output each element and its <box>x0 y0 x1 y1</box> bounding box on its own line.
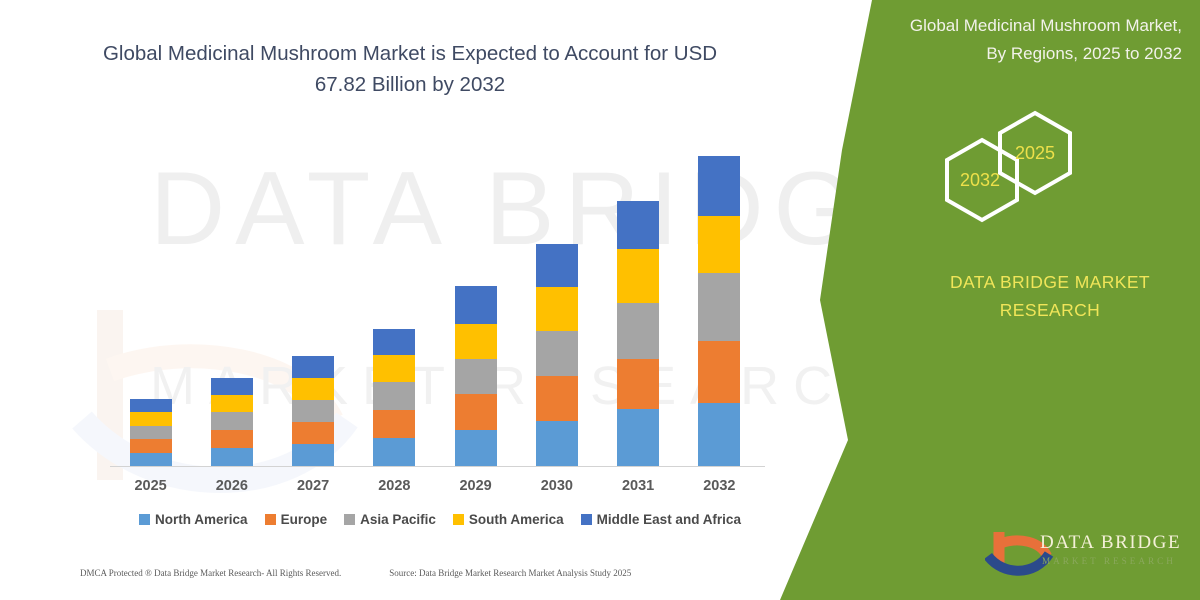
bar-segment <box>455 359 497 394</box>
bar-segment <box>373 438 415 467</box>
legend-label: Middle East and Africa <box>597 512 741 527</box>
bar-segment <box>536 376 578 421</box>
logo-tagline: MARKET RESEARCH <box>1042 556 1176 566</box>
sidebar-heading-line2: By Regions, 2025 to 2032 <box>822 40 1182 68</box>
bar-segment <box>536 244 578 287</box>
x-axis-tick-label: 2027 <box>273 478 353 494</box>
legend-swatch-icon <box>265 514 276 525</box>
brand-line-2: RESEARCH <box>900 296 1200 324</box>
bar-segment <box>617 201 659 249</box>
legend-swatch-icon <box>344 514 355 525</box>
footer: DMCA Protected ® Data Bridge Market Rese… <box>80 568 780 578</box>
bar-column <box>192 120 272 467</box>
bar-segment <box>373 355 415 382</box>
bar-segment <box>130 412 172 426</box>
bar-segment <box>211 378 253 395</box>
x-axis-line <box>110 466 765 467</box>
bar-segment <box>698 216 740 273</box>
brand-line-1: DATA BRIDGE MARKET <box>900 268 1200 296</box>
chart-panel: DATA BRIDGE MARKET RESEARCH Global Medic… <box>0 0 880 600</box>
footer-copyright: DMCA Protected ® Data Bridge Market Rese… <box>80 568 341 578</box>
brand-name: DATA BRIDGE MARKET RESEARCH <box>900 268 1200 324</box>
stacked-bar <box>455 286 497 467</box>
bar-segment <box>536 421 578 467</box>
bar-column <box>354 120 434 467</box>
bar-segment <box>617 409 659 467</box>
bar-segment <box>698 403 740 467</box>
footer-source: Source: Data Bridge Market Research Mark… <box>389 568 631 578</box>
bar-segment <box>292 378 334 400</box>
bar-column <box>679 120 759 467</box>
bar-column <box>517 120 597 467</box>
legend-swatch-icon <box>581 514 592 525</box>
hex-badge-2025: 2025 <box>1015 143 1055 164</box>
chart-plot-area <box>110 120 760 467</box>
bar-segment <box>292 422 334 444</box>
bar-segment <box>130 399 172 412</box>
hex-badge-2032: 2032 <box>960 170 1000 191</box>
bar-segment <box>211 448 253 467</box>
bar-segment <box>373 329 415 355</box>
stacked-bar <box>130 399 172 467</box>
chart-legend: North AmericaEuropeAsia PacificSouth Ame… <box>110 512 770 527</box>
legend-swatch-icon <box>139 514 150 525</box>
x-axis-tick-label: 2031 <box>598 478 678 494</box>
stacked-bar <box>617 201 659 467</box>
x-axis-tick-label: 2026 <box>192 478 272 494</box>
x-axis-labels: 20252026202720282029203020312032 <box>110 478 760 494</box>
legend-label: Asia Pacific <box>360 512 436 527</box>
bar-segment <box>292 356 334 378</box>
bar-segment <box>455 286 497 324</box>
legend-item[interactable]: North America <box>139 512 248 527</box>
bar-segment <box>211 412 253 430</box>
bar-group <box>110 120 760 467</box>
bar-segment <box>698 341 740 403</box>
bar-segment <box>455 394 497 430</box>
bar-segment <box>211 430 253 448</box>
page-title: Global Medicinal Mushroom Market is Expe… <box>80 38 740 100</box>
x-axis-tick-label: 2032 <box>679 478 759 494</box>
x-axis-tick-label: 2030 <box>517 478 597 494</box>
sidebar-heading: Global Medicinal Mushroom Market, By Reg… <box>822 12 1182 68</box>
logo-wordmark: DATA BRIDGE <box>1040 532 1181 554</box>
bar-segment <box>536 287 578 331</box>
legend-item[interactable]: Middle East and Africa <box>581 512 741 527</box>
stacked-bar <box>373 329 415 467</box>
bar-segment <box>536 331 578 376</box>
legend-label: South America <box>469 512 564 527</box>
legend-item[interactable]: Asia Pacific <box>344 512 436 527</box>
infographic-canvas: DATA BRIDGE MARKET RESEARCH Global Medic… <box>0 0 1200 600</box>
legend-swatch-icon <box>453 514 464 525</box>
sidebar-heading-line1: Global Medicinal Mushroom Market, <box>822 12 1182 40</box>
stacked-bar <box>211 378 253 467</box>
bar-column <box>273 120 353 467</box>
legend-label: Europe <box>281 512 328 527</box>
x-axis-tick-label: 2028 <box>354 478 434 494</box>
bar-segment <box>455 430 497 467</box>
stacked-bar <box>292 356 334 467</box>
bar-segment <box>617 303 659 359</box>
bar-segment <box>698 273 740 341</box>
stacked-bar <box>698 156 740 467</box>
legend-label: North America <box>155 512 248 527</box>
bar-segment <box>617 249 659 303</box>
bar-segment <box>292 444 334 467</box>
bar-segment <box>373 382 415 410</box>
x-axis-tick-label: 2029 <box>436 478 516 494</box>
x-axis-tick-label: 2025 <box>111 478 191 494</box>
bar-segment <box>130 439 172 453</box>
bar-segment <box>455 324 497 359</box>
bar-segment <box>292 400 334 422</box>
legend-item[interactable]: Europe <box>265 512 328 527</box>
bar-segment <box>130 453 172 467</box>
legend-item[interactable]: South America <box>453 512 564 527</box>
bar-segment <box>698 156 740 216</box>
hexagon-outline-icon <box>930 105 1130 230</box>
bar-segment <box>211 395 253 412</box>
hexagon-badges: 2025 2032 <box>930 105 1130 230</box>
bar-column <box>111 120 191 467</box>
bar-column <box>436 120 516 467</box>
stacked-bar <box>536 244 578 467</box>
bar-segment <box>373 410 415 438</box>
bar-column <box>598 120 678 467</box>
bar-segment <box>617 359 659 409</box>
bar-segment <box>130 426 172 439</box>
